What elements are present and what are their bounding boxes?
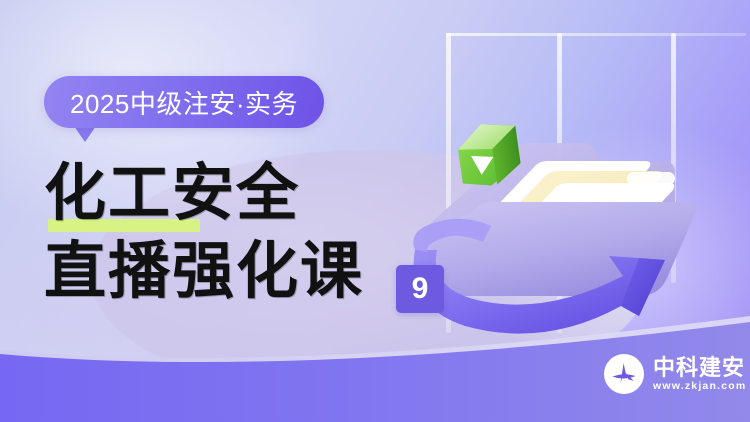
headline-row-1: 化工安全: [44, 155, 464, 233]
headline-block: 化工安全 直播强化课: [44, 155, 464, 311]
brand-logo[interactable]: 中科建安 www.zkjan.com: [604, 354, 746, 394]
panel-top-edge: [446, 33, 746, 36]
headline-line-2: 直播强化课: [44, 233, 464, 311]
course-category-badge[interactable]: 2025中级注安·实务: [44, 76, 324, 128]
badge-tail: [74, 126, 96, 142]
logo-url: www.zkjan.com: [653, 381, 746, 392]
logo-text-wrap: 中科建安 www.zkjan.com: [653, 356, 746, 392]
headline-row-2: 直播强化课: [44, 233, 464, 311]
logo-brand-name: 中科建安: [653, 356, 746, 379]
people-circle-icon: [604, 354, 644, 394]
course-poster: 2025中级注安·实务 化工安全 直播强化课 9 中科建安 www.zkjan.…: [0, 0, 750, 422]
headline-line-1: 化工安全: [44, 155, 464, 233]
badge-label: 2025中级注安·实务: [70, 84, 298, 121]
